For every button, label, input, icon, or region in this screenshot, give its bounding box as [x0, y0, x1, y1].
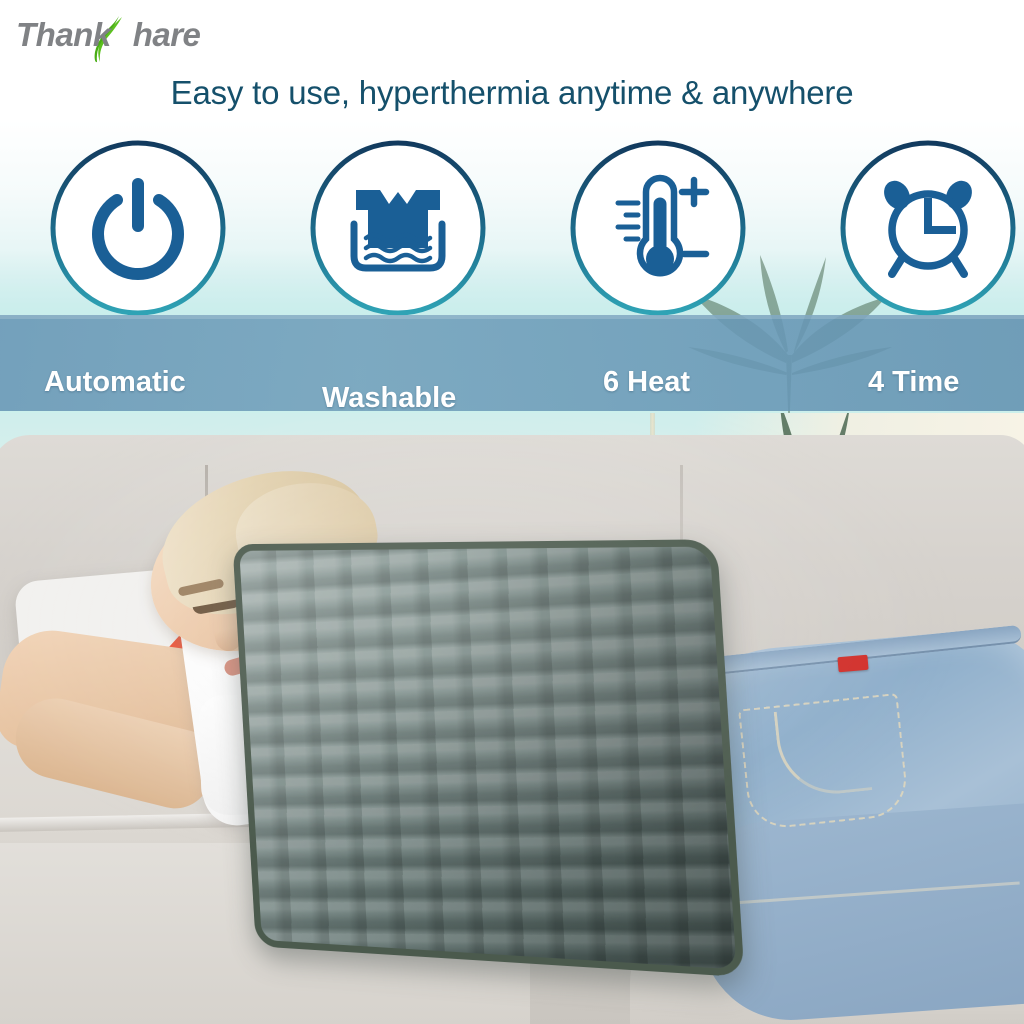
feature-icon-row: [0, 138, 1024, 318]
feature-label-line1: 4 Time: [868, 367, 959, 398]
person-jeans-legs: [693, 800, 1024, 1024]
brand-name: Thankhare: [16, 16, 200, 54]
feature-label-line1: Automatic: [44, 367, 186, 398]
power-button-icon: [82, 172, 194, 284]
heating-pad-shading: [239, 547, 736, 970]
feature-label-line1: Washable: [322, 383, 456, 414]
heating-pad-product: [232, 541, 722, 961]
jeans-red-brand-tab: [837, 655, 868, 673]
feature-label-line1: 6 Heat: [603, 367, 695, 398]
washable-garment-in-basin-icon: [342, 172, 454, 284]
product-lifestyle-photo: [0, 413, 1024, 1024]
brand-name-part2: hare: [133, 16, 201, 53]
feature-panel: Thankhare Easy to use, hyperthermia anyt…: [0, 0, 1024, 430]
product-infographic: Thankhare Easy to use, hyperthermia anyt…: [0, 0, 1024, 1024]
feature-icon-heat-modes: [568, 138, 748, 318]
thermometer-plus-minus-icon: [602, 172, 714, 284]
feature-icon-time-levels: [838, 138, 1018, 318]
feature-icon-automatic-shutdown: [48, 138, 228, 318]
alarm-clock-icon: [872, 172, 984, 284]
feature-icon-washable: [308, 138, 488, 318]
headline-text: Easy to use, hyperthermia anytime & anyw…: [0, 74, 1024, 112]
brand-logo: Thankhare: [16, 14, 236, 66]
brand-name-part1: Thank: [16, 16, 111, 53]
heating-pad-body: [233, 539, 745, 977]
